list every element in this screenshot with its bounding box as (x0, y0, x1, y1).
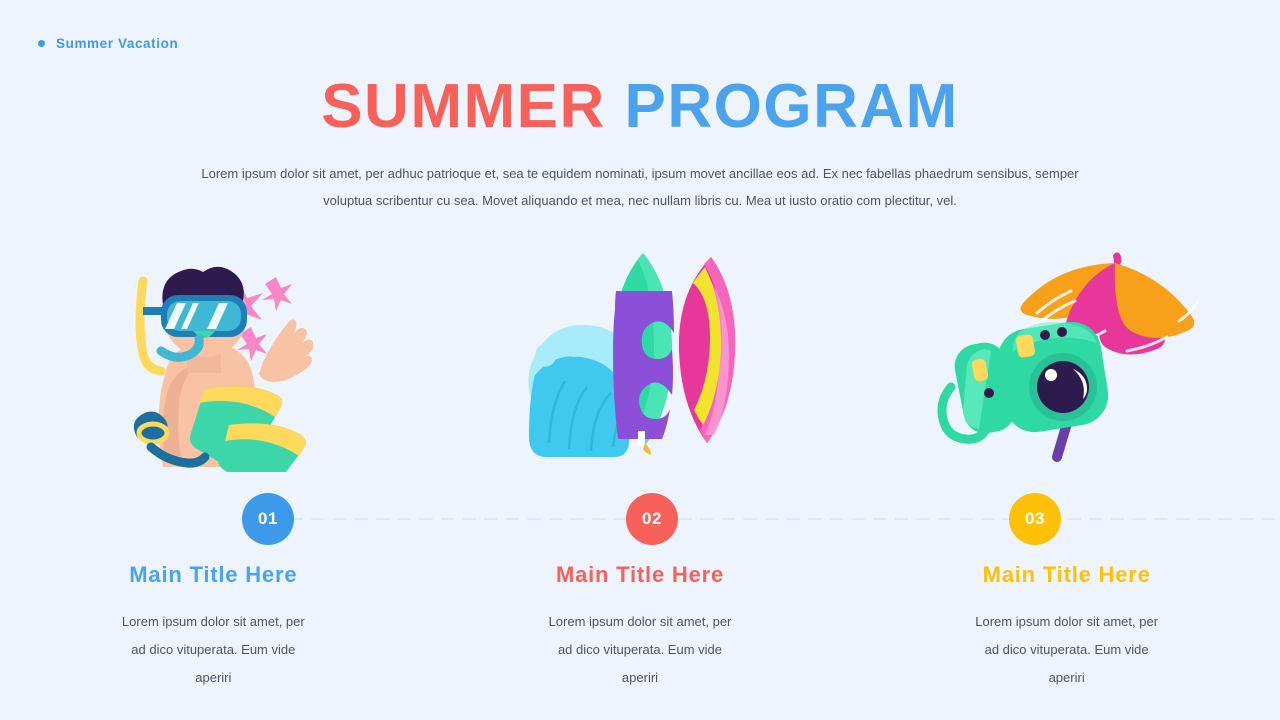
wave-with-surfboards-illustration (525, 240, 755, 472)
column-2 (427, 240, 854, 472)
page-title: SUMMER PROGRAM (0, 76, 1280, 138)
bullet-dot-icon (38, 40, 45, 47)
caption-1-title: Main Title Here (0, 562, 427, 588)
timeline-step-02[interactable]: 02 (626, 493, 678, 545)
timeline-step-03[interactable]: 03 (1009, 493, 1061, 545)
page-title-word-1: SUMMER (321, 72, 606, 141)
page-title-word-2: PROGRAM (625, 72, 959, 141)
eyebrow-label: Summer Vacation (56, 36, 178, 51)
column-1 (0, 240, 427, 472)
timeline-step-03-number: 03 (1025, 509, 1045, 529)
intro-paragraph: Lorem ipsum dolor sit amet, per adhuc pa… (180, 160, 1100, 215)
caption-3: Main Title Here Lorem ipsum dolor sit am… (853, 562, 1280, 692)
camera-and-beach-umbrella-illustration (917, 240, 1217, 472)
timeline: 01 02 03 (0, 493, 1280, 545)
caption-2-title: Main Title Here (427, 562, 854, 588)
caption-1-body: Lorem ipsum dolor sit amet, per ad dico … (0, 608, 427, 692)
caption-2: Main Title Here Lorem ipsum dolor sit am… (427, 562, 854, 692)
eyebrow: Summer Vacation (38, 36, 178, 51)
snorkeler-with-flippers-illustration (113, 240, 313, 472)
caption-3-title: Main Title Here (853, 562, 1280, 588)
timeline-step-02-number: 02 (642, 509, 662, 529)
caption-row: Main Title Here Lorem ipsum dolor sit am… (0, 562, 1280, 692)
timeline-step-01[interactable]: 01 (242, 493, 294, 545)
caption-1: Main Title Here Lorem ipsum dolor sit am… (0, 562, 427, 692)
caption-2-body: Lorem ipsum dolor sit amet, per ad dico … (427, 608, 854, 692)
timeline-connector (268, 518, 1280, 521)
column-3 (853, 240, 1280, 472)
illustration-row (0, 240, 1280, 472)
timeline-step-01-number: 01 (258, 509, 278, 529)
caption-3-body: Lorem ipsum dolor sit amet, per ad dico … (853, 608, 1280, 692)
